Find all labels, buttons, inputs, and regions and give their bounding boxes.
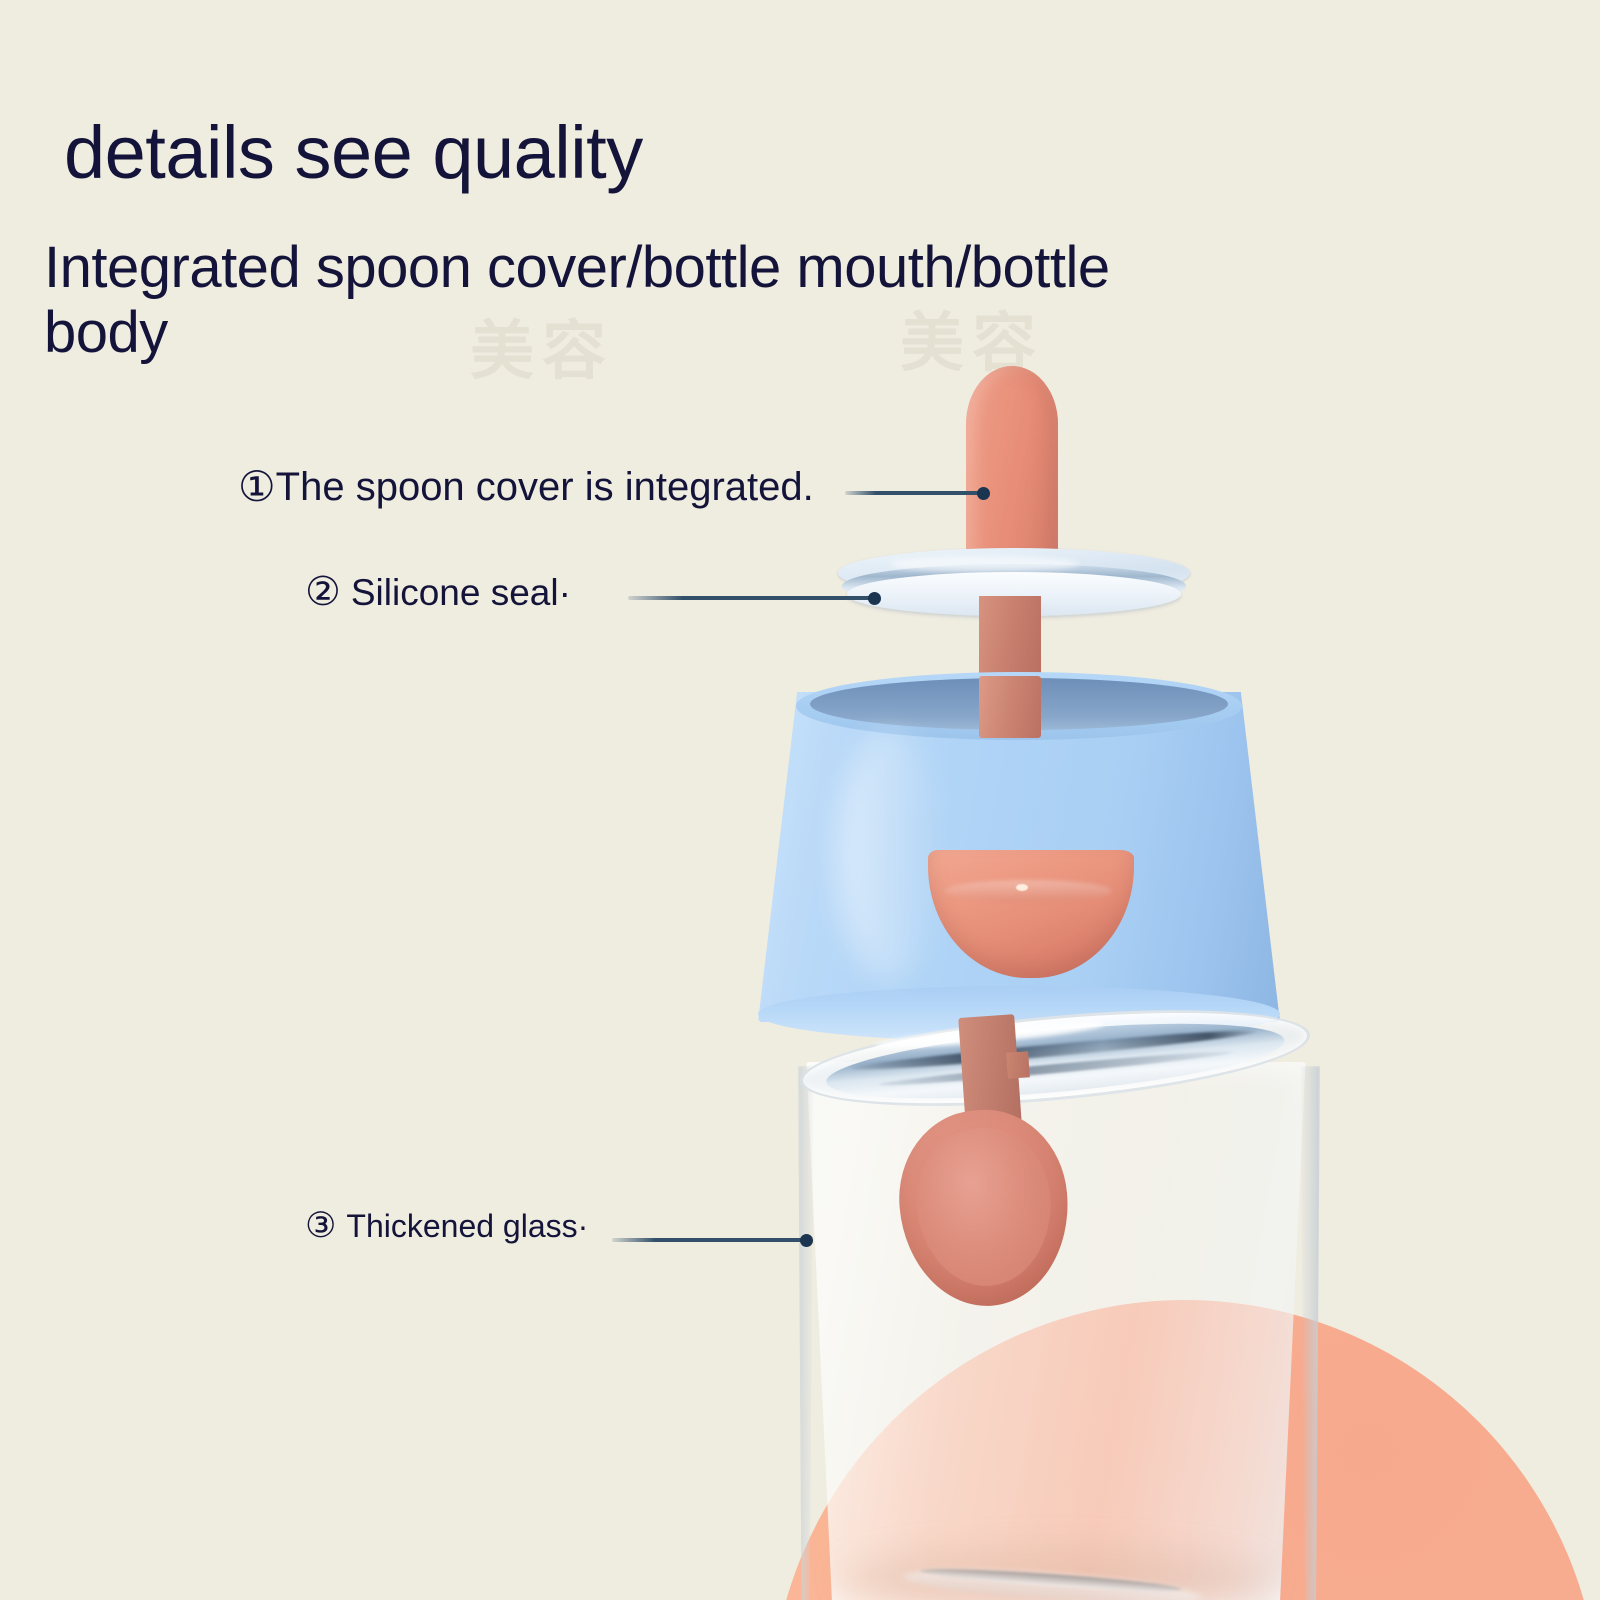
callout-thickened-glass: ③ Thickened glass· [305,1208,588,1243]
glass-jar [782,1010,1330,1600]
infographic-page: 美容 美容 details see quality Integrated spo… [0,0,1600,1600]
product-shadow [840,1548,1270,1600]
callout-label-2: Silicone seal· [351,574,571,611]
callout-label-3: Thickened glass· [346,1210,588,1242]
cap-dome-highlight [1016,884,1028,891]
callout-silicone-seal: ② Silicone seal· [305,572,571,612]
cap-dome-crease [944,880,1112,902]
callout-number-2: ② [305,572,341,612]
seal-highlight [890,556,1080,572]
callout-number-1: ① [238,466,276,508]
leader-line-2 [628,596,876,600]
glass-jar-right-edge [1300,1066,1320,1600]
product-illustration [0,0,1600,1600]
callout-label-1: The spoon cover is integrated. [276,467,814,507]
leader-line-1 [845,491,985,495]
spoon-stem-notch [1006,1051,1030,1078]
callout-spoon-cover: ① The spoon cover is integrated. [238,466,814,508]
spoon-stem-through-cap [979,676,1041,738]
callout-number-3: ③ [305,1208,336,1243]
blue-bottle-cap [758,672,1280,1040]
leader-line-3 [612,1238,808,1242]
